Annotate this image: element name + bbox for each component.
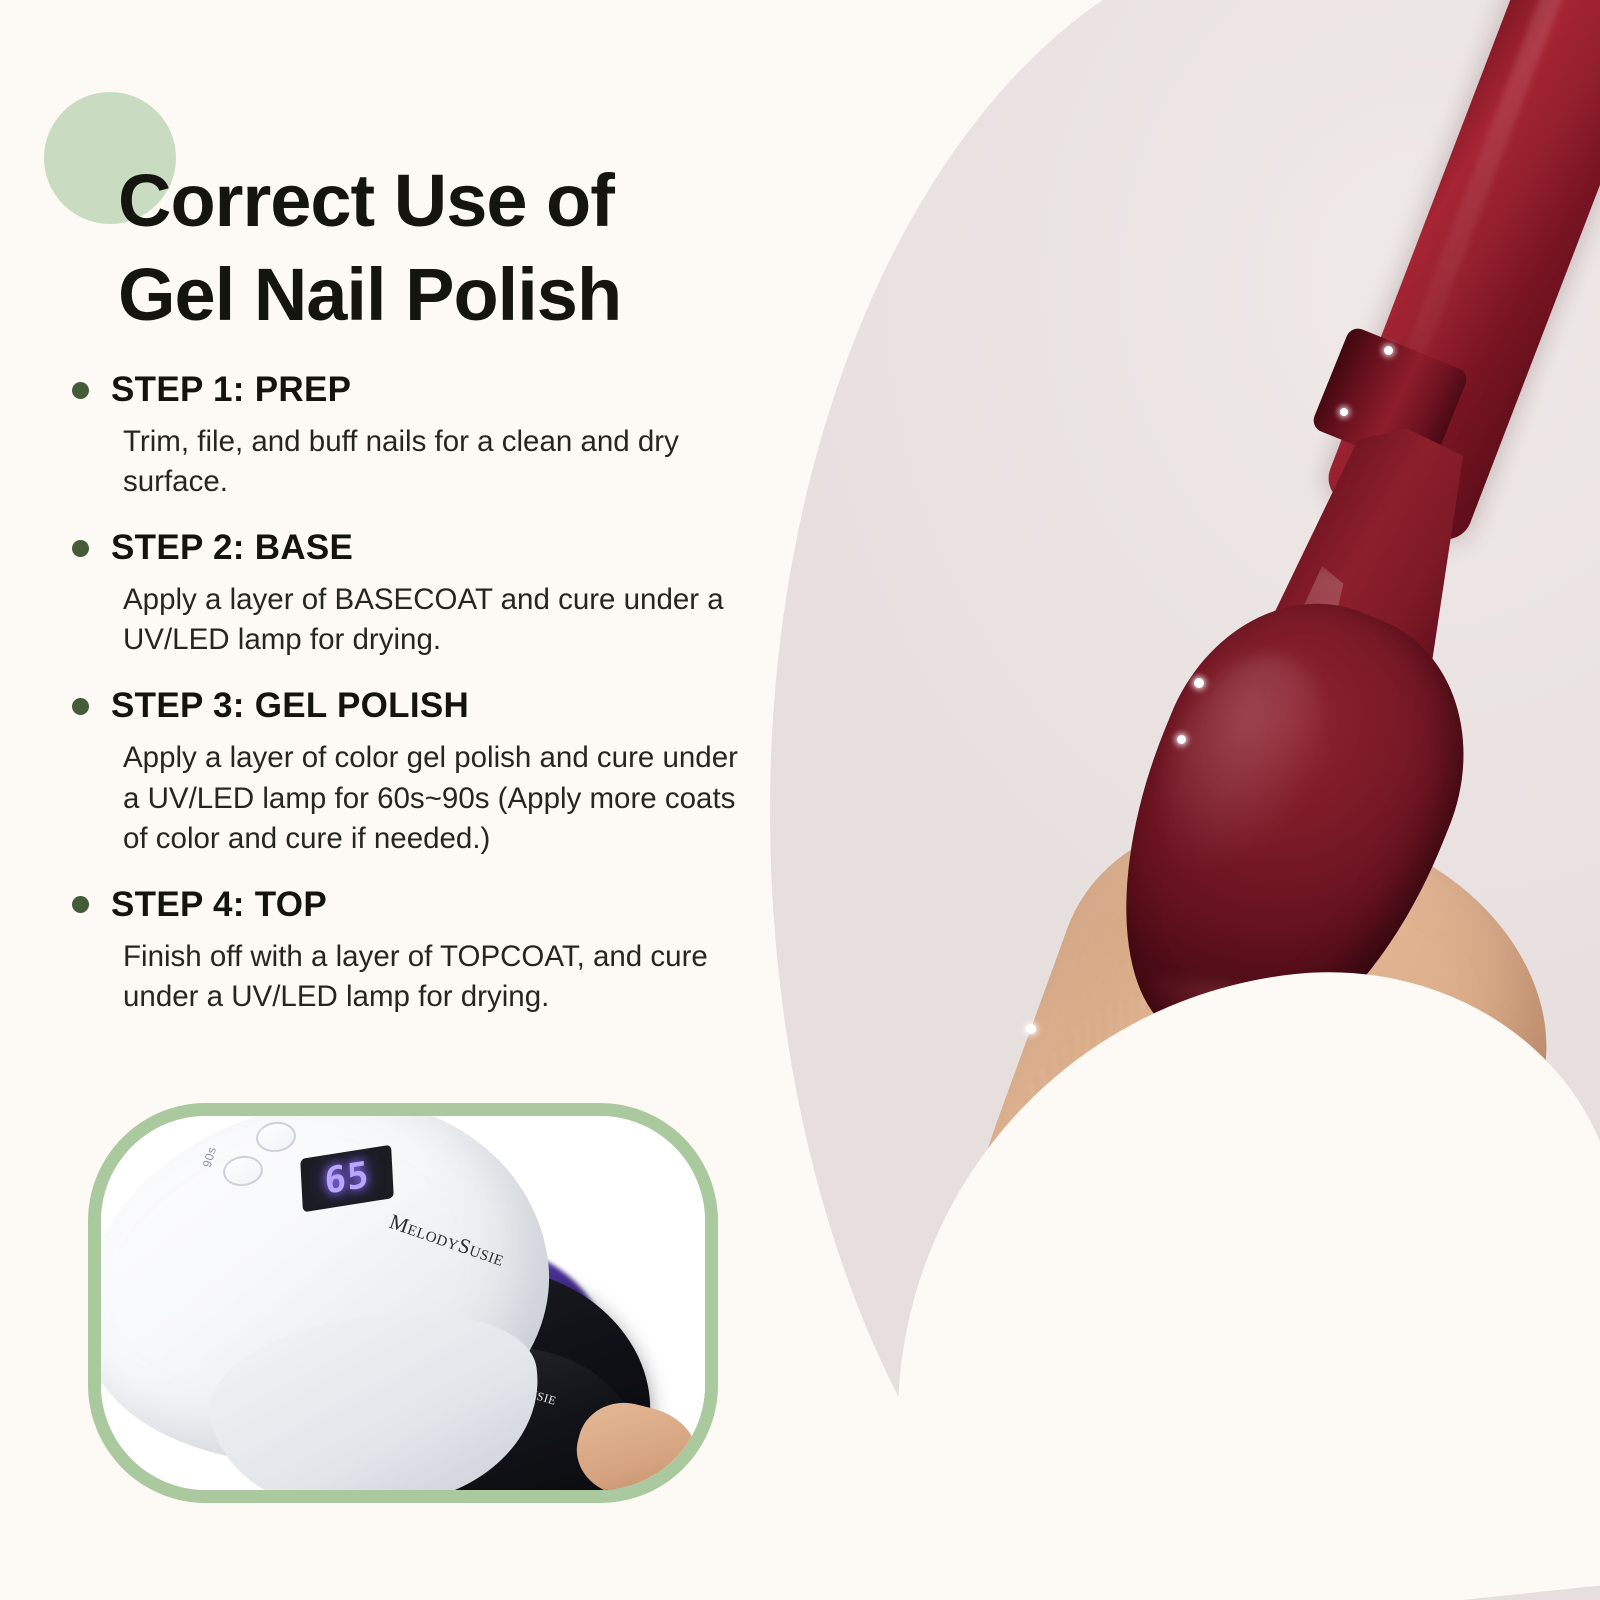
bullet-icon	[72, 382, 89, 399]
list-item: STEP 1: PREP Trim, file, and buff nails …	[72, 370, 762, 502]
step-title: STEP 3: GEL POLISH	[111, 686, 469, 726]
bullet-icon	[72, 540, 89, 557]
specular-highlight	[1026, 1024, 1036, 1034]
step-body: Trim, file, and buff nails for a clean a…	[123, 422, 762, 502]
step-body: Finish off with a layer of TOPCOAT, and …	[123, 937, 762, 1017]
bullet-icon	[72, 896, 89, 913]
page-title: Correct Use of Gel Nail Polish	[118, 154, 798, 343]
steps-list: STEP 1: PREP Trim, file, and buff nails …	[72, 370, 762, 1043]
page-title-line-2: Gel Nail Polish	[118, 248, 798, 343]
step-body: Apply a layer of color gel polish and cu…	[123, 738, 762, 858]
step-header: STEP 4: TOP	[72, 885, 762, 925]
product-photo	[770, 0, 1600, 1600]
bullet-icon	[72, 698, 89, 715]
uv-lamp-photo: MelodySusie 90s 65 MelodySusie	[101, 1116, 705, 1490]
list-item: STEP 3: GEL POLISH Apply a layer of colo…	[72, 686, 762, 858]
step-title: STEP 2: BASE	[111, 528, 353, 568]
step-header: STEP 1: PREP	[72, 370, 762, 410]
step-header: STEP 2: BASE	[72, 528, 762, 568]
specular-highlight	[1194, 678, 1204, 688]
lamp-timer-value: 65	[324, 1154, 371, 1202]
step-header: STEP 3: GEL POLISH	[72, 686, 762, 726]
specular-highlight	[1177, 735, 1186, 744]
uv-lamp-photo-frame: MelodySusie 90s 65 MelodySusie	[88, 1103, 718, 1503]
page-title-line-1: Correct Use of	[118, 154, 798, 249]
specular-highlight	[1384, 346, 1393, 355]
list-item: STEP 2: BASE Apply a layer of BASECOAT a…	[72, 528, 762, 660]
step-title: STEP 1: PREP	[111, 370, 351, 410]
step-title: STEP 4: TOP	[111, 885, 327, 925]
list-item: STEP 4: TOP Finish off with a layer of T…	[72, 885, 762, 1017]
specular-highlight	[1340, 408, 1348, 416]
step-body: Apply a layer of BASECOAT and cure under…	[123, 580, 762, 660]
infographic-root: Correct Use of Gel Nail Polish STEP 1: P…	[0, 0, 1600, 1600]
